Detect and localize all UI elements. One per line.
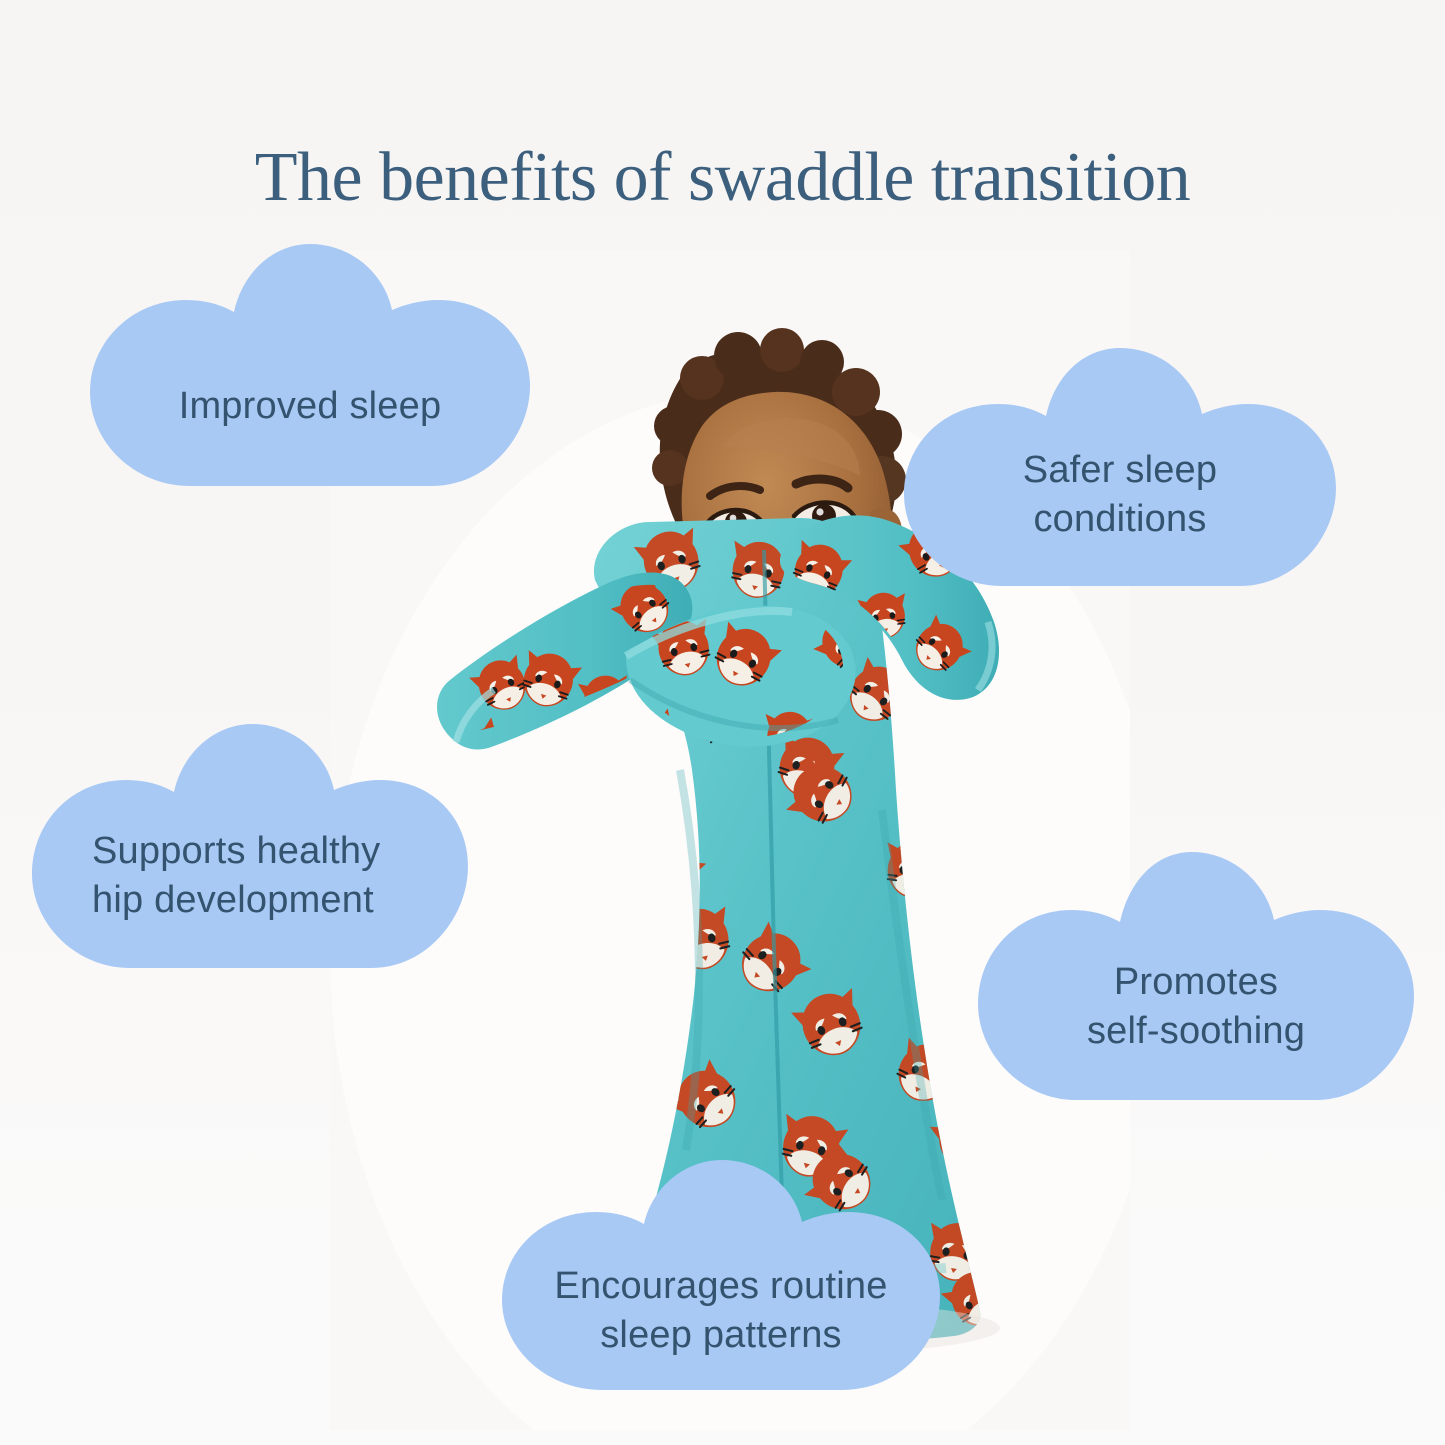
benefit-cloud-routine-sleep: Encourages routine sleep patterns [500,1158,942,1392]
benefit-cloud-label: Supports healthy hip development [30,827,470,924]
page-title: The benefits of swaddle transition [0,139,1445,217]
cloud-shape [90,244,530,486]
benefit-cloud-label: Promotes self-soothing [976,958,1416,1055]
benefit-cloud-safer-sleep: Safer sleep conditions [902,346,1338,588]
benefit-cloud-self-soothing: Promotes self-soothing [976,850,1416,1102]
infographic-canvas: The benefits of swaddle transition [0,0,1445,1445]
benefit-cloud-label: Safer sleep conditions [902,446,1338,543]
benefit-cloud-hip-development: Supports healthy hip development [30,722,470,970]
benefit-cloud-label: Improved sleep [88,382,532,431]
benefit-cloud-label: Encourages routine sleep patterns [500,1262,942,1359]
benefit-cloud-improved-sleep: Improved sleep [88,242,532,488]
